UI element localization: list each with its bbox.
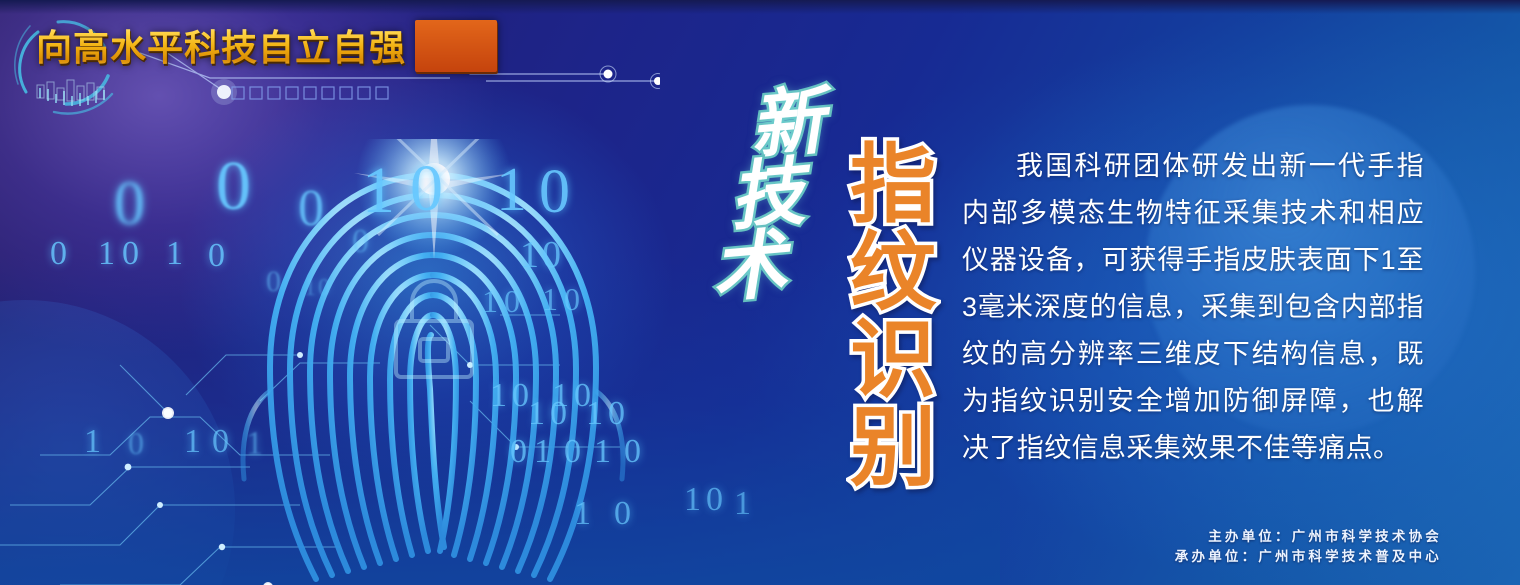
binary-digit: 1 bbox=[684, 481, 701, 519]
binary-digit: 0 bbox=[216, 147, 251, 227]
footer-coorganizer: 承办单位：广州市科学技术普及中心 bbox=[1175, 547, 1442, 567]
binary-digit: 0 bbox=[298, 179, 324, 238]
binary-digit: 1 bbox=[490, 377, 507, 415]
binary-digit: 0 bbox=[706, 481, 723, 519]
binary-digits-layer: 0001010010100100101010101010101101001010… bbox=[90, 95, 790, 585]
binary-digit: 0 bbox=[608, 395, 625, 433]
binary-digit: 1 bbox=[496, 155, 527, 226]
headline-main-text: 向高水平科技自立自强 bbox=[36, 19, 406, 71]
binary-digit: 1 bbox=[84, 423, 101, 461]
binary-digit: 1 bbox=[534, 433, 551, 471]
binary-digit: 0 bbox=[212, 423, 229, 461]
binary-digit: 1 bbox=[98, 235, 115, 273]
binary-digit: 0 bbox=[624, 433, 641, 471]
title-primary-char-3: 术 bbox=[708, 227, 788, 306]
binary-digit: 0 bbox=[266, 265, 281, 299]
binary-digit: 1 bbox=[246, 425, 263, 463]
title-secondary-char-1: 指 bbox=[850, 142, 936, 230]
binary-digit: 0 bbox=[504, 283, 520, 320]
title-secondary-char-4: 别 bbox=[850, 405, 936, 493]
binary-digit: 0 bbox=[512, 377, 529, 415]
binary-digit: 0 bbox=[208, 237, 225, 275]
footer-credits: 主办单位：广州市科学技术协会 承办单位：广州市科学技术普及中心 bbox=[1175, 527, 1442, 567]
binary-digit: 1 bbox=[362, 153, 395, 229]
binary-digit: 0 bbox=[542, 233, 561, 277]
banner-headline: 向高水平科技自立自强 迈进 bbox=[36, 22, 497, 68]
binary-digit: 0 bbox=[510, 433, 527, 471]
poster-banner: 向高水平科技自立自强 迈进 bbox=[0, 0, 1520, 585]
title-secondary-char-3: 识 bbox=[850, 317, 936, 405]
binary-digit: 0 bbox=[410, 151, 443, 227]
binary-digit: 0 bbox=[318, 275, 330, 302]
binary-digit: 1 bbox=[542, 281, 558, 318]
binary-digit: 1 bbox=[304, 275, 316, 302]
fingerprint-artwork: 0001010010100100101010101010101101001010… bbox=[90, 95, 730, 585]
binary-digit: 1 bbox=[586, 395, 603, 433]
title-primary: 新 技 术 bbox=[700, 88, 845, 304]
binary-digit: 0 bbox=[539, 157, 570, 228]
binary-digit: 0 bbox=[122, 235, 139, 273]
binary-digit: 0 bbox=[564, 433, 581, 471]
binary-digit: 0 bbox=[550, 395, 567, 433]
title-secondary: 指 纹 识 别 bbox=[833, 142, 953, 493]
binary-digit: 1 bbox=[528, 395, 545, 433]
background-top-shadow bbox=[0, 0, 1520, 14]
binary-digit: 1 bbox=[520, 233, 539, 277]
binary-digit: 0 bbox=[614, 495, 631, 533]
binary-digit: 1 bbox=[166, 235, 183, 273]
binary-digit: 1 bbox=[482, 283, 498, 320]
binary-digit: 1 bbox=[594, 433, 611, 471]
title-secondary-char-2: 纹 bbox=[850, 230, 936, 318]
binary-digit: 1 bbox=[574, 495, 591, 533]
binary-digit: 0 bbox=[114, 169, 145, 240]
binary-digit: 0 bbox=[352, 223, 369, 261]
binary-digit: 1 bbox=[734, 485, 751, 523]
binary-digit: 1 bbox=[184, 423, 201, 461]
body-paragraph: 我国科研团体研发出新一代手指内部多模态生物特征采集技术和相应仪器设备，可获得手指… bbox=[962, 143, 1424, 472]
binary-digit: 0 bbox=[50, 235, 67, 273]
binary-digit: 0 bbox=[128, 425, 144, 462]
binary-digit: 0 bbox=[564, 281, 580, 318]
headline-accent-text: 迈进 bbox=[415, 18, 497, 73]
footer-organizer: 主办单位：广州市科学技术协会 bbox=[1175, 527, 1442, 547]
